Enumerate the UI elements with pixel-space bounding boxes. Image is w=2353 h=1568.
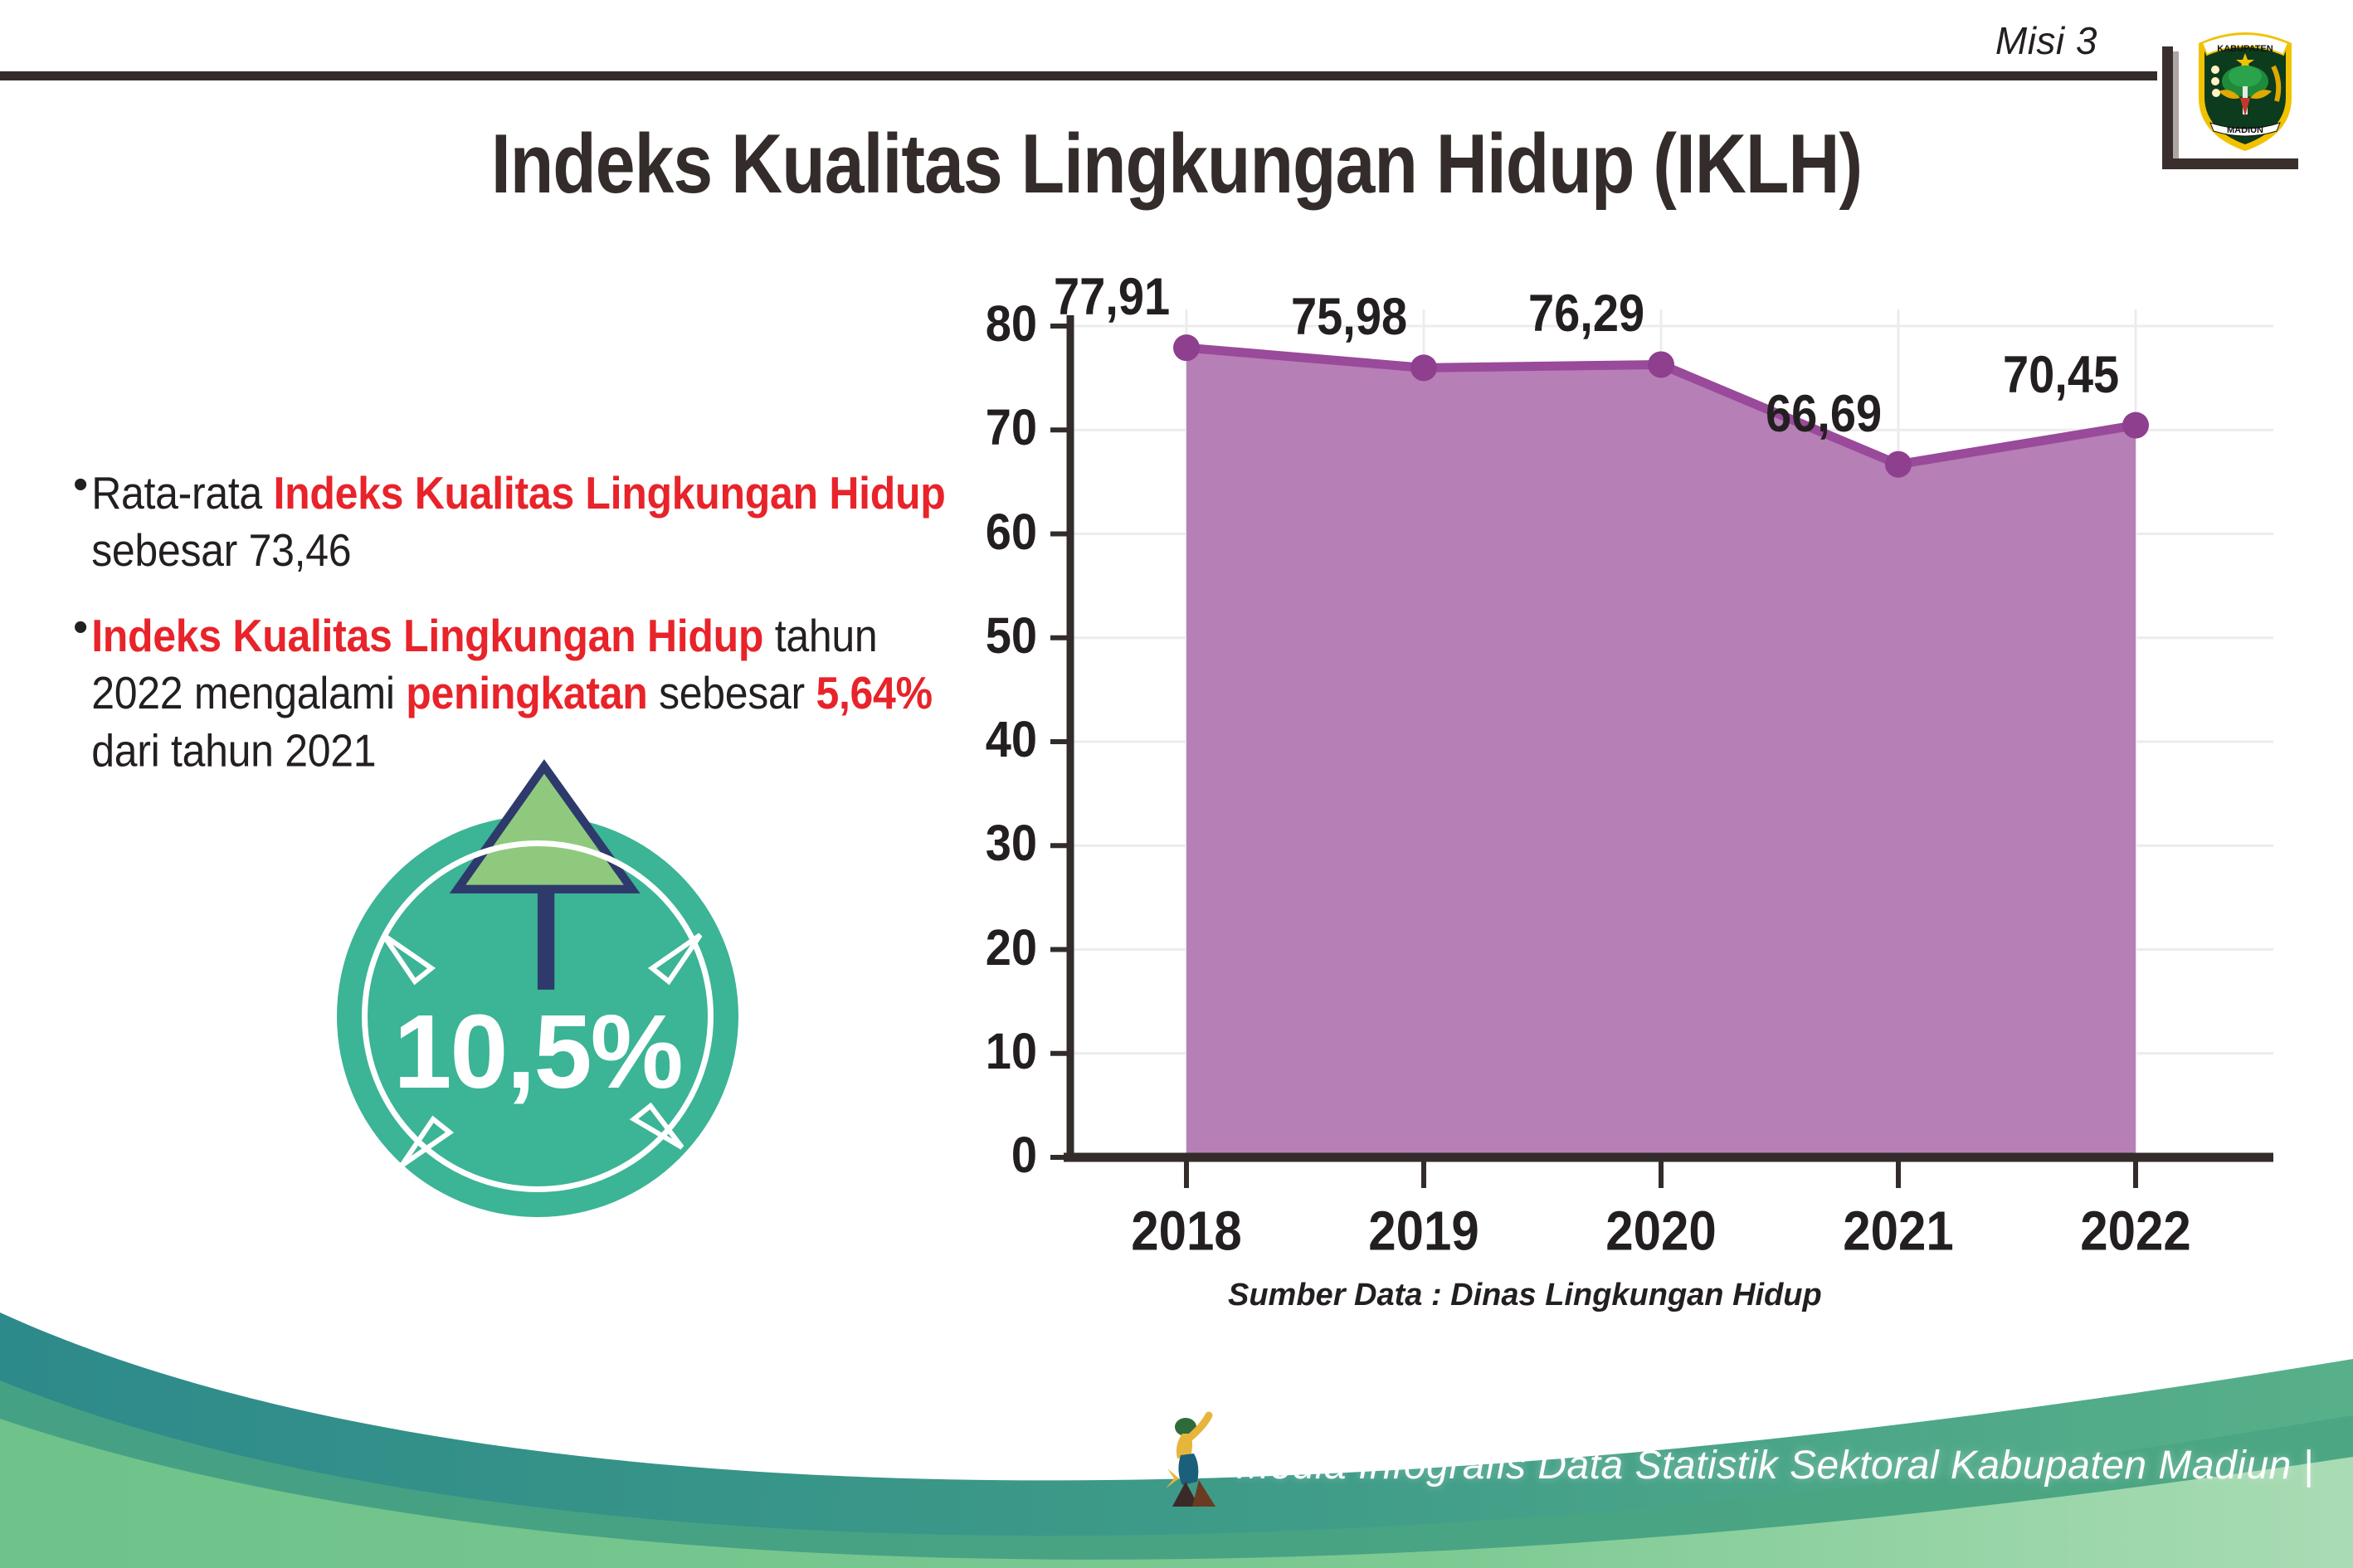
data-point-marker [1173, 334, 1200, 361]
value-label: 70,45 [2003, 344, 2119, 405]
y-tick-label: 40 [946, 709, 1037, 769]
badge-tick-marks-icon [325, 751, 790, 1215]
statistics-person-icon [1157, 1409, 1240, 1508]
highlight-phrase: 5,64% [816, 668, 932, 719]
chart-canvas [979, 282, 2307, 1211]
highlight-phrase: Indeks Kualitas Lingkungan Hidup [274, 467, 946, 519]
y-tick-label: 70 [946, 397, 1037, 457]
highlight-phrase: Indeks Kualitas Lingkungan Hidup [91, 610, 763, 661]
increase-badge: 10,5% [325, 751, 790, 1215]
x-tick-label: 2019 [1332, 1199, 1515, 1263]
value-label: 77,91 [1054, 266, 1170, 327]
footer-text: Media Infografis Data Statistik Sektoral… [1236, 1443, 2314, 1488]
emblem-top-text: KABUPATEN [2217, 44, 2273, 54]
plain-phrase: sebesar 73,46 [91, 525, 351, 577]
bullet-marker: • [73, 607, 88, 648]
chart-x-ticks [1186, 1157, 2136, 1188]
y-tick-label: 80 [946, 294, 1037, 353]
data-point-marker [1410, 354, 1437, 381]
list-item: • Indeks Kualitas Lingkungan Hidup tahun… [73, 607, 969, 764]
x-tick-label: 2018 [1095, 1199, 1278, 1263]
value-label: 75,98 [1291, 286, 1407, 347]
x-tick-label: 2020 [1570, 1199, 1752, 1263]
highlight-phrase: peningkatan [406, 668, 647, 719]
area-fill [1186, 348, 2136, 1157]
y-tick-label: 10 [946, 1021, 1037, 1081]
header-divider [0, 71, 2157, 80]
x-tick-label: 2021 [1807, 1199, 1990, 1263]
plain-phrase: sebesar [647, 668, 816, 719]
infographic-page: Misi 3 KABUPATEN MADIUN Indeks Kualitas … [0, 0, 2353, 1568]
value-label: 66,69 [1766, 383, 1882, 444]
page-title: Indeks Kualitas Lingkungan Hidup (IKLH) [0, 116, 2353, 213]
y-tick-label: 0 [946, 1125, 1037, 1185]
y-tick-label: 60 [946, 501, 1037, 561]
bullet-text-1: Rata-rata Indeks Kualitas Lingkungan Hid… [91, 465, 969, 580]
mission-label: Misi 3 [1995, 18, 2097, 63]
value-label: 76,29 [1528, 283, 1644, 343]
data-point-marker [2122, 412, 2149, 439]
y-tick-label: 20 [946, 917, 1037, 976]
y-tick-label: 50 [946, 606, 1037, 665]
y-tick-label: 30 [946, 813, 1037, 873]
x-tick-label: 2022 [2044, 1199, 2227, 1263]
iklh-area-chart: 01020304050607080 20182019202020212022 7… [979, 282, 2307, 1211]
data-point-marker [1885, 451, 1912, 478]
data-point-marker [1648, 351, 1674, 377]
list-item: • Rata-rata Indeks Kualitas Lingkungan H… [73, 465, 969, 569]
badge-value: 10,5% [337, 991, 738, 1112]
bullet-marker: • [73, 465, 88, 505]
plain-phrase: Rata-rata [91, 467, 273, 519]
chart-area-series [1186, 348, 2136, 1157]
